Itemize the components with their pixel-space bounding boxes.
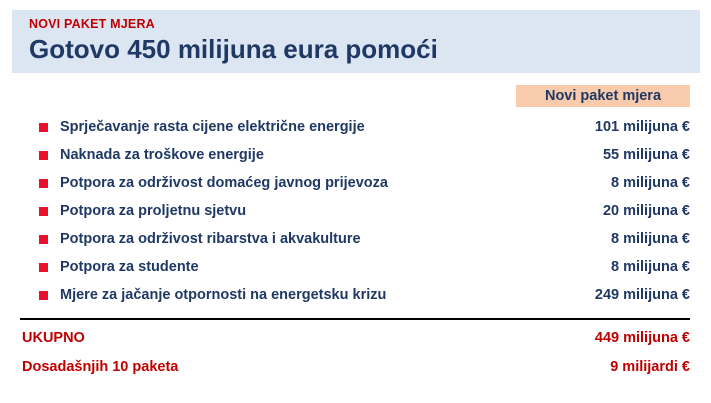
- table-row: Mjere za jačanje otpornosti na energetsk…: [20, 281, 690, 309]
- bullet-square-icon: [39, 291, 48, 300]
- summary-row-previous-packages: Dosadašnjih 10 paketa 9 milijardi €: [20, 352, 690, 381]
- table-row: Naknada za troškove energije 55 milijuna…: [20, 141, 690, 169]
- summary-label: UKUPNO: [20, 330, 510, 346]
- table-row: Potpora za studente 8 milijuna €: [20, 253, 690, 281]
- measure-value: 249 milijuna €: [510, 287, 690, 303]
- header-eyebrow: NOVI PAKET MJERA: [29, 17, 700, 31]
- header-band: NOVI PAKET MJERA Gotovo 450 milijuna eur…: [12, 10, 700, 73]
- measure-value: 55 milijuna €: [510, 147, 690, 163]
- measure-label: Potpora za održivost domaćeg javnog prij…: [60, 175, 510, 191]
- measure-value: 8 milijuna €: [510, 231, 690, 247]
- measure-value: 8 milijuna €: [510, 175, 690, 191]
- summary-value: 449 milijuna €: [510, 330, 690, 346]
- measure-value: 101 milijuna €: [510, 119, 690, 135]
- table-row: Potpora za održivost domaćeg javnog prij…: [20, 169, 690, 197]
- bullet-square-icon: [39, 151, 48, 160]
- bullet-square-icon: [39, 207, 48, 216]
- measure-value: 8 milijuna €: [510, 259, 690, 275]
- summary-label: Dosadašnjih 10 paketa: [20, 359, 510, 375]
- measure-label: Potpora za proljetnu sjetvu: [60, 203, 510, 219]
- summary-list: UKUPNO 449 milijuna € Dosadašnjih 10 pak…: [20, 323, 690, 381]
- measure-label: Mjere za jačanje otpornosti na energetsk…: [60, 287, 510, 303]
- measure-label: Potpora za studente: [60, 259, 510, 275]
- value-column-header: Novi paket mjera: [516, 85, 690, 107]
- bullet-square-icon: [39, 179, 48, 188]
- bullet-square-icon: [39, 123, 48, 132]
- measure-value: 20 milijuna €: [510, 203, 690, 219]
- measure-label: Naknada za troškove energije: [60, 147, 510, 163]
- page-title: Gotovo 450 milijuna eura pomoći: [29, 33, 700, 66]
- bullet-square-icon: [39, 263, 48, 272]
- table-row: Sprječavanje rasta cijene električne ene…: [20, 113, 690, 141]
- measure-label: Sprječavanje rasta cijene električne ene…: [60, 119, 510, 135]
- summary-row-total: UKUPNO 449 milijuna €: [20, 323, 690, 352]
- total-divider: [20, 318, 690, 320]
- measure-label: Potpora za održivost ribarstva i akvakul…: [60, 231, 510, 247]
- table-row: Potpora za proljetnu sjetvu 20 milijuna …: [20, 197, 690, 225]
- table-row: Potpora za održivost ribarstva i akvakul…: [20, 225, 690, 253]
- summary-value: 9 milijardi €: [510, 359, 690, 375]
- bullet-square-icon: [39, 235, 48, 244]
- measures-list: Sprječavanje rasta cijene električne ene…: [20, 113, 690, 309]
